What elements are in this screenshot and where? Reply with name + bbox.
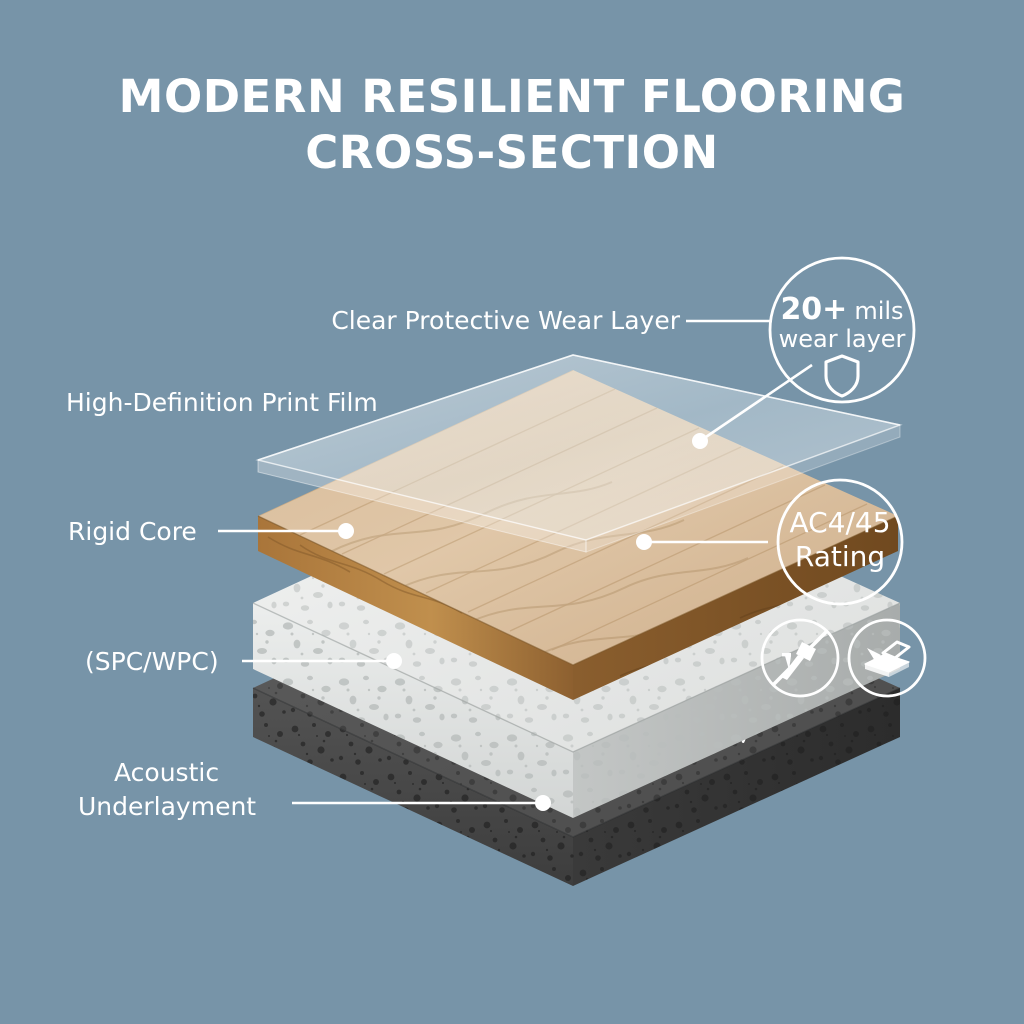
label-clear-wear-layer: Clear Protective Wear Layer: [0, 306, 680, 335]
callout-wear-caption: wear layer: [772, 326, 912, 352]
infographic-canvas: MODERN RESILIENT FLOORING CROSS-SECTION …: [0, 0, 1024, 1024]
page-title-line1: MODERN RESILIENT FLOORING: [0, 70, 1024, 123]
callout-wear-unit: mils: [854, 297, 903, 325]
shield-icon: [826, 356, 858, 396]
page-title-line2: CROSS-SECTION: [0, 126, 1024, 179]
callout-wear-value: 20+: [780, 292, 847, 327]
label-acoustic-line2: Underlayment: [78, 792, 256, 821]
label-rigid-core: Rigid Core: [68, 517, 197, 546]
label-spc-wpc: (SPC/WPC): [85, 647, 219, 676]
callout-rating-line2: Rating: [770, 542, 910, 573]
callout-rating-line1: AC4/45: [770, 508, 910, 539]
label-acoustic-line1: Acoustic: [114, 758, 219, 787]
label-print-film: High-Definition Print Film: [66, 388, 378, 417]
